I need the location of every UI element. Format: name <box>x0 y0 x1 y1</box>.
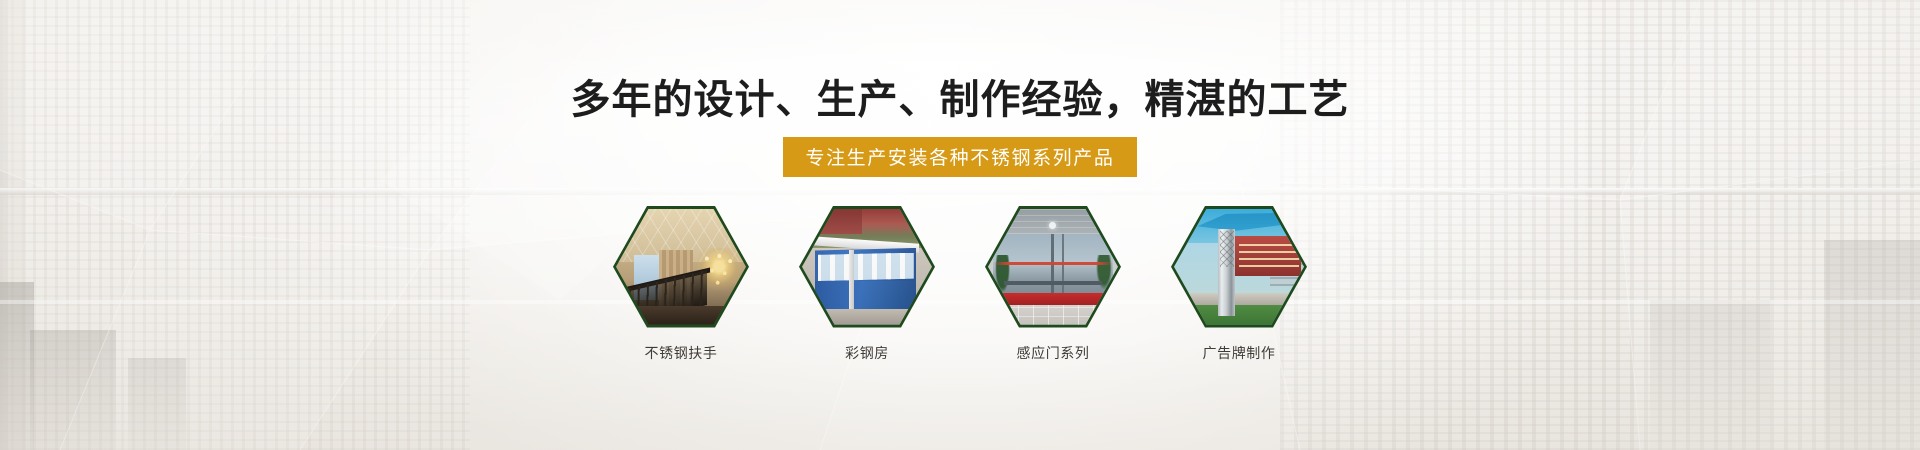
banner-headline: 多年的设计、生产、制作经验，精湛的工艺 <box>571 78 1350 123</box>
banner-subline-badge: 专注生产安装各种不锈钢系列产品 <box>783 137 1136 177</box>
product-item-billboard-making[interactable]: 广告牌制作 <box>1171 205 1307 363</box>
hexagon-frame <box>985 205 1121 329</box>
product-item-color-steel-booth[interactable]: 彩钢房 <box>799 205 935 363</box>
product-item-sensor-door[interactable]: 感应门系列 <box>985 205 1121 363</box>
promo-banner: 多年的设计、生产、制作经验，精湛的工艺 专注生产安装各种不锈钢系列产品 <box>0 0 1920 450</box>
product-label: 感应门系列 <box>1017 343 1090 363</box>
color-steel-booth-photo-icon <box>802 208 932 326</box>
product-hexagon-row: 不锈钢扶手 <box>613 205 1307 363</box>
hexagon-frame <box>799 205 935 329</box>
product-item-stainless-handrail[interactable]: 不锈钢扶手 <box>613 205 749 363</box>
billboard-making-photo-icon <box>1174 208 1304 326</box>
product-label: 彩钢房 <box>845 343 889 363</box>
hexagon-frame <box>613 205 749 329</box>
product-label: 广告牌制作 <box>1203 343 1276 363</box>
sensor-door-photo-icon <box>988 208 1118 326</box>
banner-subline-wrapper: 专注生产安装各种不锈钢系列产品 <box>783 137 1136 177</box>
hexagon-frame <box>1171 205 1307 329</box>
product-label: 不锈钢扶手 <box>645 343 718 363</box>
stainless-handrail-photo-icon <box>616 208 746 326</box>
banner-content: 多年的设计、生产、制作经验，精湛的工艺 专注生产安装各种不锈钢系列产品 <box>0 0 1920 450</box>
